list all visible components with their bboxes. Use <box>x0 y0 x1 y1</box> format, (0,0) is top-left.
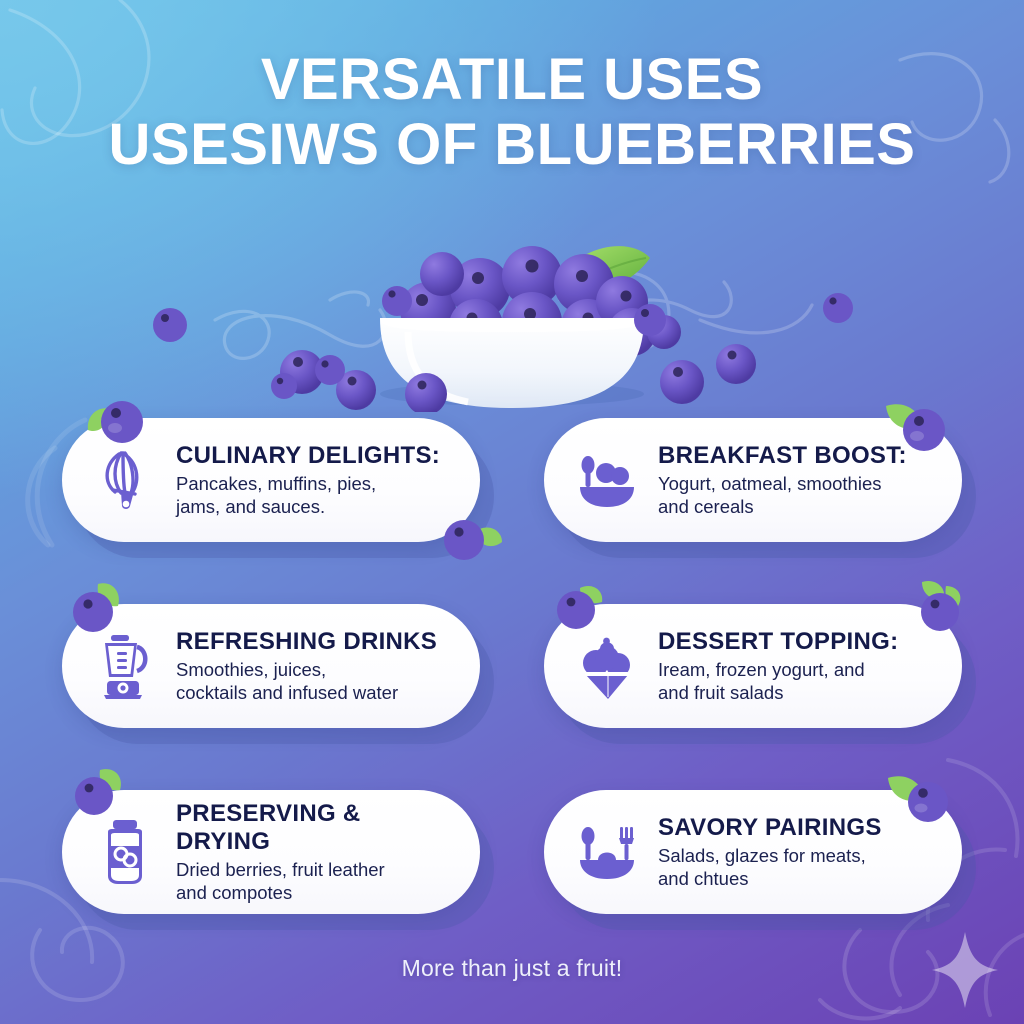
card-body-line-1: Smoothies, juices, <box>176 658 437 681</box>
card-body-line-1: Salads, glazes for meats, <box>658 844 882 867</box>
preserve-jar-icon <box>88 813 162 891</box>
card-preserving-drying[interactable]: PRESERVING & DRYING Dried berries, fruit… <box>62 790 480 930</box>
card-body-line-2: and chtues <box>658 867 882 890</box>
page-title: VERSATILE USES USESIWS OF BLUEBERRIES <box>0 48 1024 178</box>
card-breakfast-boost[interactable]: BREAKFAST BOOST: Yogurt, oatmeal, smooth… <box>544 418 962 558</box>
card-body-line-1: Yogurt, oatmeal, smoothies <box>658 472 907 495</box>
card-body-line-1: Iream, frozen yogurt, and <box>658 658 898 681</box>
card-heading: CULINARY DELIGHTS: <box>176 442 440 470</box>
card-heading: SAVORY PAIRINGS <box>658 814 882 842</box>
whisk-icon <box>88 441 162 519</box>
card-heading: DESSERT TOPPING: <box>658 628 898 656</box>
scattered-berry-icon <box>150 305 190 345</box>
card-body-line-1: Pancakes, muffins, pies, <box>176 472 440 495</box>
infographic-poster: VERSATILE USES USESIWS OF BLUEBERRIES <box>0 0 1024 1024</box>
card-body-line-2: cocktails and infused water <box>176 681 437 704</box>
card-body-line-2: and fruit salads <box>658 681 898 704</box>
card-body-line-2: jams, and sauces. <box>176 495 440 518</box>
card-heading: REFRESHING DRINKS <box>176 628 437 656</box>
card-refreshing-drinks[interactable]: REFRESHING DRINKS Smoothies, juices, coc… <box>62 604 480 744</box>
scattered-berry-icon <box>820 290 856 326</box>
cereal-bowl-spoon-icon <box>570 441 644 519</box>
card-culinary-delights[interactable]: CULINARY DELIGHTS: Pancakes, muffins, pi… <box>62 418 480 558</box>
title-line-1: VERSATILE USES <box>261 47 763 112</box>
card-body-line-2: and compotes <box>176 881 454 904</box>
uses-card-grid: CULINARY DELIGHTS: Pancakes, muffins, pi… <box>62 418 962 930</box>
blender-icon <box>88 627 162 705</box>
card-savory-pairings[interactable]: SAVORY PAIRINGS Salads, glazes for meats… <box>544 790 962 930</box>
card-heading: BREAKFAST BOOST: <box>658 442 907 470</box>
card-heading: PRESERVING & DRYING <box>176 800 454 856</box>
card-body-line-1: Dried berries, fruit leather <box>176 858 454 881</box>
title-line-2: USESIWS OF BLUEBERRIES <box>0 113 1024 178</box>
card-dessert-topping[interactable]: DESSERT TOPPING: Iream, frozen yogurt, a… <box>544 604 962 744</box>
bowl-fork-spoon-icon <box>570 813 644 891</box>
footer-tagline: More than just a fruit! <box>0 955 1024 982</box>
hero-illustration <box>232 222 792 412</box>
card-body-line-2: and cereals <box>658 495 907 518</box>
ice-cream-cone-icon <box>570 627 644 705</box>
